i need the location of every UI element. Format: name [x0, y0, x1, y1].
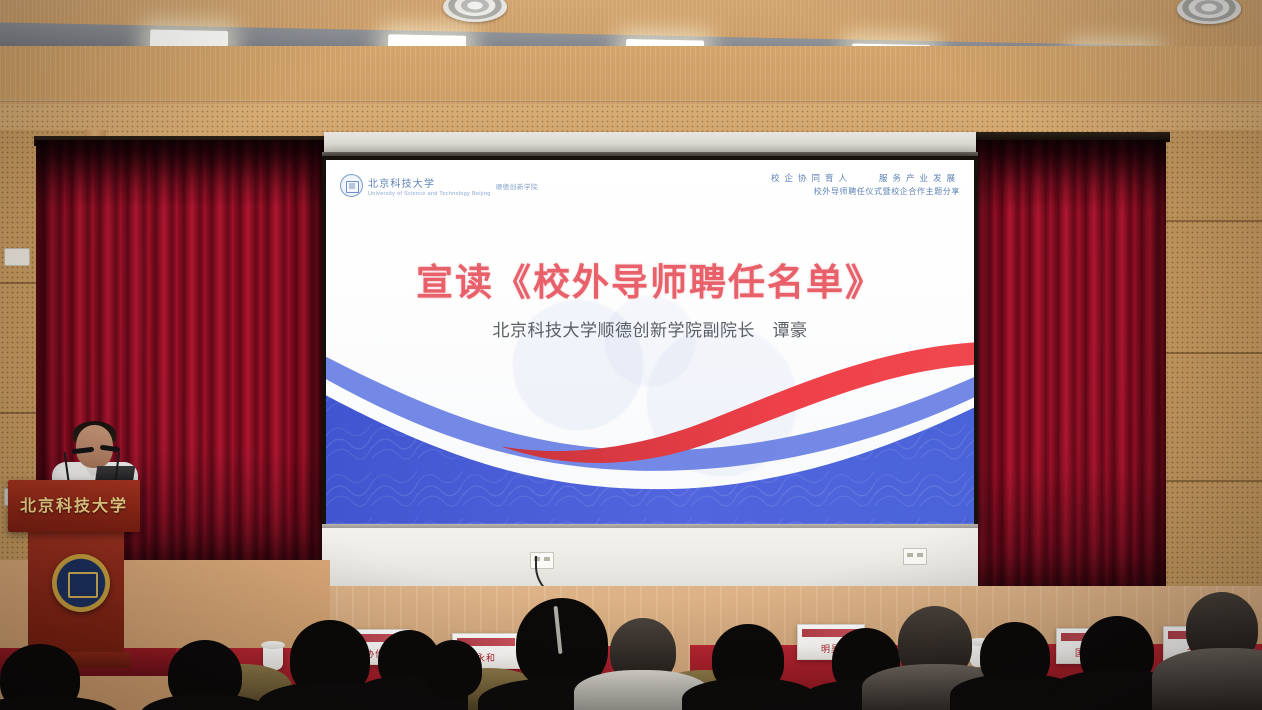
- slide-wave-graphic: [326, 320, 974, 524]
- presentation-slide: 北京科技大学 University of Science and Technol…: [326, 160, 974, 524]
- podium-institution-text: 北京科技大学: [8, 492, 140, 516]
- slide-logo: 北京科技大学 University of Science and Technol…: [340, 174, 538, 197]
- audience-head-4: [424, 640, 482, 698]
- slide-logo-text-block: 北京科技大学 University of Science and Technol…: [368, 175, 491, 197]
- auditorium-scene: 北京科技大学 University of Science and Technol…: [0, 0, 1262, 710]
- projection-screen-frame: 北京科技大学 University of Science and Technol…: [322, 156, 978, 528]
- stage-curtain-right: [966, 140, 1166, 595]
- wall-socket-right: [903, 548, 927, 565]
- slide-university-name-en: University of Science and Technology Bei…: [368, 191, 491, 197]
- wall-seam-upper: [0, 100, 1262, 102]
- side-wall-right: [1160, 130, 1262, 620]
- slide-tagline: 校企协同育人 服务产业发展 校外导师聘任仪式暨校企合作主题分享: [771, 172, 960, 197]
- screen-valance: [324, 132, 976, 154]
- audience-shoulders-12: [1152, 648, 1262, 710]
- wall-divider-right-2: [1160, 352, 1262, 354]
- slide-college-name: 顺德创新学院: [496, 181, 539, 191]
- ustb-seal-emblem: [52, 554, 110, 612]
- wall-divider-right-1: [1160, 220, 1262, 222]
- slide-tagline-line2: 校外导师聘任仪式暨校企合作主题分享: [771, 186, 960, 197]
- slide-title: 宣读《校外导师聘任名单》: [326, 252, 974, 306]
- audience-shoulders-7: [682, 678, 818, 710]
- slide-university-name: 北京科技大学: [368, 175, 491, 190]
- wall-divider-right-3: [1160, 480, 1262, 482]
- wall-box-upper-left: [4, 248, 30, 266]
- slide-tagline-line1: 校企协同育人 服务产业发展: [771, 172, 960, 184]
- university-seal-icon: [340, 174, 363, 197]
